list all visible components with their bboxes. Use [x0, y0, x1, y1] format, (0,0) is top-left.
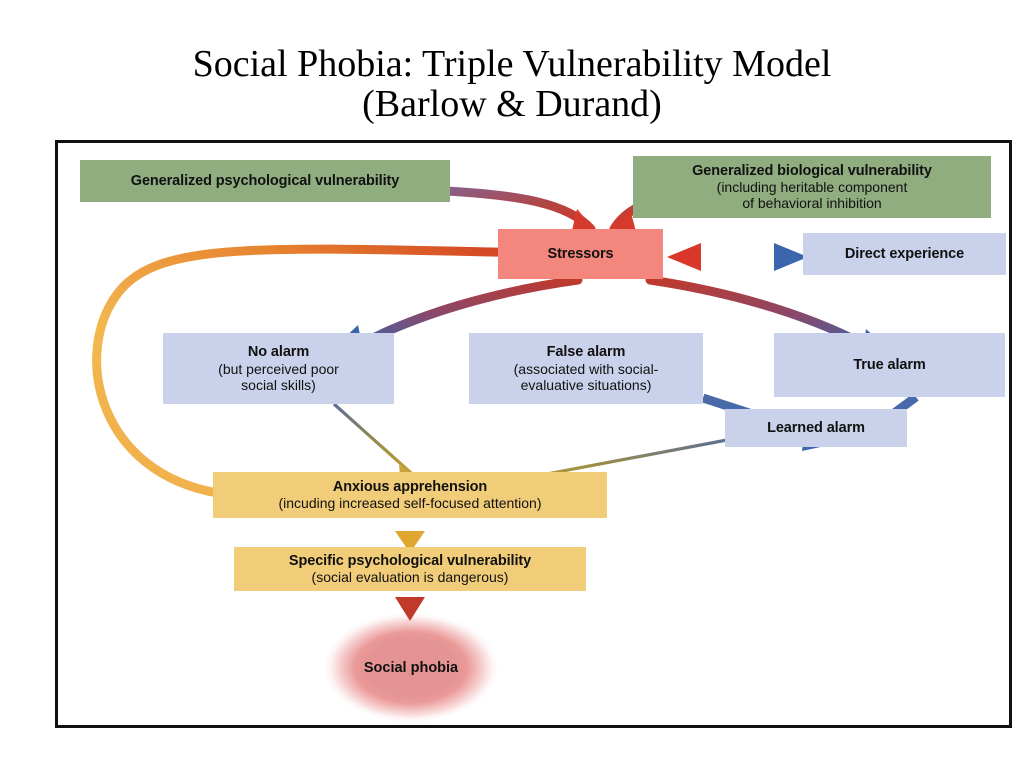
node-title: Specific psychological vulnerability [289, 553, 531, 570]
node-subtitle-line-1: (associated with social- [514, 361, 659, 377]
node-subtitle-line-1: (including heritable component [717, 179, 908, 195]
node-generalized-psychological-vulnerability[interactable]: Generalized psychological vulnerability [80, 160, 450, 202]
node-title: Social phobia [364, 660, 458, 676]
node-title: Direct experience [845, 246, 964, 263]
node-title: True alarm [853, 357, 925, 374]
slide-page: Social Phobia: Triple Vulnerability Mode… [0, 0, 1024, 768]
node-title: False alarm [547, 344, 626, 361]
diagram-frame: Generalized psychological vulnerability … [55, 140, 1012, 728]
node-title: No alarm [248, 344, 309, 361]
node-subtitle-line-2: social skills) [241, 377, 316, 393]
node-title: Anxious apprehension [333, 479, 487, 496]
node-generalized-biological-vulnerability[interactable]: Generalized biological vulnerability (in… [633, 156, 991, 218]
node-no-alarm[interactable]: No alarm (but perceived poor social skil… [163, 333, 394, 404]
node-subtitle-line-2: of behavioral inhibition [742, 195, 881, 211]
node-specific-psychological-vulnerability[interactable]: Specific psychological vulnerability (so… [234, 547, 586, 591]
node-title: Generalized psychological vulnerability [131, 173, 399, 190]
title-line-2: (Barlow & Durand) [0, 84, 1024, 124]
node-stressors[interactable]: Stressors [498, 229, 663, 279]
node-subtitle: (incuding increased self-focused attenti… [278, 495, 541, 511]
node-subtitle-line-2: evaluative situations) [521, 377, 652, 393]
node-false-alarm[interactable]: False alarm (associated with social- eva… [469, 333, 703, 404]
node-subtitle: (social evaluation is dangerous) [312, 569, 509, 585]
node-anxious-apprehension[interactable]: Anxious apprehension (incuding increased… [213, 472, 607, 518]
node-true-alarm[interactable]: True alarm [774, 333, 1005, 397]
node-direct-experience[interactable]: Direct experience [803, 233, 1006, 275]
node-title: Generalized biological vulnerability [692, 163, 932, 180]
node-subtitle-line-1: (but perceived poor [218, 361, 339, 377]
title-line-1: Social Phobia: Triple Vulnerability Mode… [0, 44, 1024, 84]
node-social-phobia[interactable]: Social phobia [316, 605, 506, 728]
edge-stressors-to-directexperience [698, 243, 808, 271]
page-title: Social Phobia: Triple Vulnerability Mode… [0, 44, 1024, 125]
node-title: Stressors [548, 246, 614, 263]
node-title: Learned alarm [767, 420, 865, 437]
node-learned-alarm[interactable]: Learned alarm [725, 409, 907, 447]
